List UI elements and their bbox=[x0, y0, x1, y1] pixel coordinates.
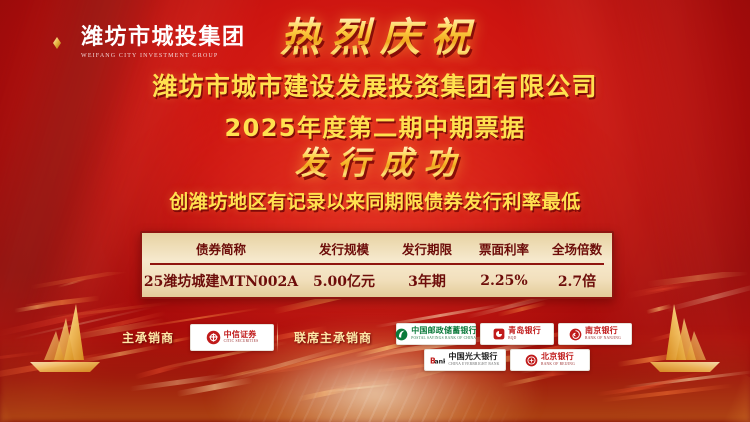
table-header-row: 债券简称发行规模发行期限票面利率全场倍数 bbox=[142, 233, 612, 263]
underwriter-name-cn: 北京银行 bbox=[541, 353, 575, 361]
company-line: 潍坊市城市建设发展投资集团有限公司 bbox=[0, 67, 750, 103]
underwriter-name-cn: 中国邮政储蓄银行 bbox=[411, 327, 477, 335]
table-header-cell: 全场倍数 bbox=[542, 239, 612, 258]
joint-underwriter-label: 联席主承销商 bbox=[294, 329, 372, 346]
underwriter-logo-chip: 青岛银行BQD bbox=[480, 323, 554, 345]
series-line: 2025年度第二期中期票据 bbox=[0, 108, 750, 143]
underwriter-logo-chip: 中信证券CITIC SECURITIES bbox=[190, 324, 274, 351]
underwriter-name-cn: 南京银行 bbox=[585, 327, 621, 335]
table-row: 25潍坊城建MTN002A5.00亿元3年期2.25%2.7倍 bbox=[142, 265, 612, 297]
underwriter-name-en: BANK OF NANJING bbox=[585, 337, 621, 341]
table-header-cell: 债券简称 bbox=[142, 239, 300, 258]
table-cell: 2.25% bbox=[466, 273, 542, 289]
table-cell: 3年期 bbox=[388, 271, 466, 291]
lead-underwriter-label: 主承销商 bbox=[122, 329, 174, 346]
table-header-cell: 发行规模 bbox=[300, 239, 388, 258]
claim-line: 创潍坊地区有记录以来同期限债券发行利率最低 bbox=[0, 187, 750, 214]
table-cell: 2.7倍 bbox=[542, 271, 612, 291]
success-line: 发行成功 bbox=[0, 146, 750, 181]
underwriter-logo-chip: Bank中国光大银行CHINA EVERBRIGHT BANK bbox=[424, 349, 506, 371]
table-header-cell: 发行期限 bbox=[388, 239, 466, 258]
underwriter-logo-chip: 中国邮政储蓄银行POSTAL SAVINGS BANK OF CHINA bbox=[396, 323, 476, 345]
table-cell: 5.00亿元 bbox=[300, 271, 388, 291]
table-body: 25潍坊城建MTN002A5.00亿元3年期2.25%2.7倍 bbox=[142, 265, 612, 297]
underwriter-name-cn: 中国光大银行 bbox=[448, 353, 499, 361]
celebration-poster: 潍坊市城投集团 WEIFANG CITY INVESTMENT GROUP 热烈… bbox=[0, 0, 750, 422]
bond-table: 债券简称发行规模发行期限票面利率全场倍数 25潍坊城建MTN002A5.00亿元… bbox=[140, 231, 614, 299]
svg-text:ank: ank bbox=[435, 358, 446, 365]
underwriter-name-en: POSTAL SAVINGS BANK OF CHINA bbox=[411, 337, 477, 341]
underwriter-name-en: BANK OF BEIJING bbox=[541, 363, 575, 367]
underwriter-logo-chip: 南京银行BANK OF NANJING bbox=[558, 323, 632, 345]
headline-block: 热烈庆祝 潍坊市城市建设发展投资集团有限公司 2025年度第二期中期票据 发行成… bbox=[0, 16, 750, 214]
underwriter-name-en: CHINA EVERBRIGHT BANK bbox=[448, 363, 499, 367]
congrats-line: 热烈庆祝 bbox=[0, 16, 750, 60]
table-cell: 25潍坊城建MTN002A bbox=[142, 271, 300, 291]
table-header-cell: 票面利率 bbox=[466, 239, 542, 258]
underwriter-name-en: CITIC SECURITIES bbox=[224, 340, 259, 344]
underwriter-name-cn: 青岛银行 bbox=[508, 327, 541, 335]
underwriter-separator bbox=[277, 322, 278, 352]
underwriter-section: 主承销商 联席主承销商 中信证券CITIC SECURITIES中国邮政储蓄银行… bbox=[0, 322, 750, 384]
underwriter-name-en: BQD bbox=[508, 337, 541, 341]
underwriter-name-cn: 中信证券 bbox=[224, 331, 259, 339]
underwriter-logo-chip: 北京银行BANK OF BEIJING bbox=[510, 349, 590, 371]
